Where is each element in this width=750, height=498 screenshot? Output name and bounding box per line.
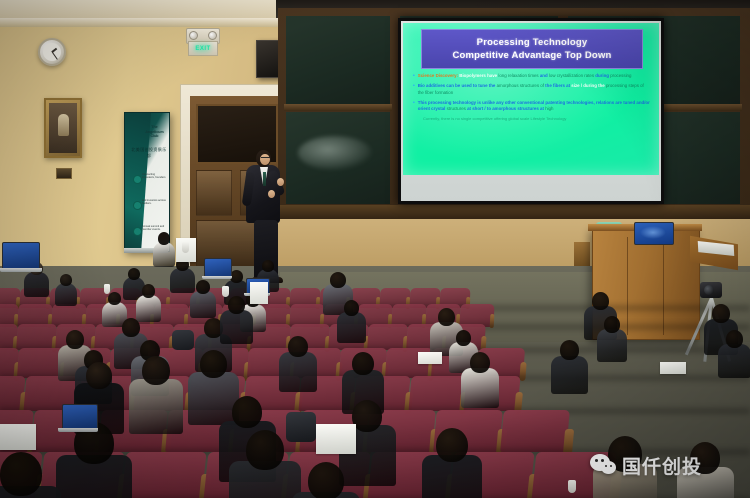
audience-head	[604, 316, 620, 333]
audience-head	[262, 260, 274, 272]
slide-title-line1: Processing Technology	[477, 36, 588, 49]
coffee-cup	[182, 242, 189, 253]
door-panel-lower-left	[196, 170, 232, 216]
audience-torso	[220, 310, 252, 344]
seat-back	[408, 376, 465, 411]
banner-blurb-1: Connecting innovators, founders	[142, 173, 167, 180]
audience-head	[200, 350, 227, 378]
seg: and	[540, 73, 548, 78]
coffee-cup	[222, 286, 229, 297]
seg: structures	[447, 106, 466, 111]
presenter-tie	[263, 172, 266, 186]
picture-artwork	[49, 103, 77, 153]
camera-lens-icon	[704, 285, 714, 295]
audience-head	[142, 284, 155, 298]
seg: high	[545, 106, 553, 111]
audience-head	[108, 292, 121, 305]
coffee-cup	[104, 284, 110, 294]
audience-head	[196, 280, 210, 294]
wall-speaker	[256, 40, 280, 78]
audience-head	[470, 352, 490, 373]
picture-figure	[58, 114, 69, 136]
wechat-eye-2	[601, 459, 604, 462]
bullet-2-text: Bio additives can be used to tune the am…	[418, 83, 651, 96]
slide-subnote: Currently, there is no single competitiv…	[413, 116, 651, 121]
audience-head	[352, 400, 382, 432]
audience-head	[246, 430, 284, 470]
wall-clock	[38, 38, 66, 66]
clock-face	[43, 43, 61, 61]
banner-org-name-en: The Angelicum Club	[142, 125, 167, 139]
audience-torso	[129, 379, 182, 434]
audience-torso	[55, 283, 78, 306]
laptop-screen	[2, 242, 40, 271]
coffee-cup	[568, 480, 576, 493]
audience-handout	[418, 352, 442, 364]
audience-head	[726, 330, 743, 348]
audience-handout	[0, 424, 36, 450]
emergency-lamp-right-icon	[208, 31, 217, 40]
seg: during	[595, 73, 609, 78]
backpack	[172, 330, 194, 350]
laptop-base	[0, 268, 42, 272]
audience-head	[122, 318, 140, 337]
audience-head	[344, 300, 359, 316]
slide-bullet-2: • Bio additives can be used to tune the …	[413, 83, 651, 96]
wechat-bubble-small	[601, 461, 616, 474]
audience-torso	[136, 295, 161, 322]
audience-head	[0, 452, 42, 496]
audience-head	[438, 308, 455, 326]
slide-bullet-3: • This processing technology is unlike a…	[413, 100, 651, 113]
slide-title-line2: Competitive Advantage Top Down	[452, 49, 611, 62]
framed-picture	[44, 98, 82, 158]
audience-torso	[461, 368, 499, 408]
seat-back	[500, 410, 570, 452]
presenter-right-hand	[277, 178, 284, 186]
audience-torso	[170, 268, 195, 293]
banner-bullet-icon-2	[133, 201, 142, 210]
audience-torso	[337, 312, 366, 342]
seg: size / during the	[571, 83, 604, 88]
wechat-logo-icon	[590, 454, 617, 477]
audience-head	[592, 292, 609, 310]
watermark-text: 国仟创投	[622, 452, 702, 479]
seat-back	[121, 452, 206, 498]
audience-head	[560, 340, 579, 360]
audience-torso	[279, 352, 317, 392]
emergency-lamp-left-icon	[189, 31, 198, 40]
seg: Bio additives can be used to tune the	[418, 83, 496, 88]
crown-molding	[0, 18, 300, 27]
podium-seam-1	[627, 237, 628, 335]
backpack	[286, 412, 316, 442]
audience-head	[60, 274, 72, 286]
seg: low crystallization rates	[549, 73, 594, 78]
slide-bullet-1: • Science Discovery: Biopolymers have lo…	[413, 73, 651, 80]
audience-head	[456, 330, 471, 346]
audience-handout	[660, 362, 686, 374]
audience-torso	[551, 356, 587, 394]
chalkboard-panel-1	[286, 16, 390, 104]
seg: long relaxation times	[498, 73, 538, 78]
audience-head	[308, 462, 344, 498]
podium-laptop-glow	[640, 226, 666, 239]
audience-laptop-base	[202, 276, 232, 279]
seg: This processing technology is unlike any…	[418, 100, 544, 105]
seg: at short / to amorphous structures at	[467, 106, 544, 111]
audience-head	[66, 330, 84, 349]
audience-torso	[190, 291, 217, 318]
bullet-marker-icon: •	[413, 100, 415, 113]
audience-head	[86, 362, 112, 389]
audience-head	[142, 356, 170, 385]
chalk-rail-1	[284, 104, 392, 111]
audience-head	[352, 352, 374, 375]
seg: amorphous structures of	[497, 83, 544, 88]
seg: formation	[435, 90, 453, 95]
audience-torso	[24, 272, 49, 297]
audience-handout	[250, 282, 268, 304]
podium-seam-2	[663, 237, 664, 335]
presentation-slide: Processing Technology Competitive Advant…	[403, 23, 659, 175]
seg: Science Discovery:	[418, 73, 458, 78]
photo-scene: EXIT The Angelicum Club 北美国创投资俱乐部 Connec…	[0, 0, 750, 498]
podium-side-box	[574, 242, 590, 266]
banner-blurb-2: and investors across borders.	[142, 199, 167, 206]
seg: processing	[610, 73, 631, 78]
banner-bullet-icon-1	[133, 175, 142, 184]
wall-plaque	[56, 168, 72, 179]
audience-head	[228, 296, 245, 314]
audience-head	[158, 232, 170, 245]
banner-bullet-icon-3	[133, 227, 142, 236]
audience-handout	[316, 424, 356, 454]
seg: the fibers at	[545, 83, 570, 88]
chalk-smudge	[298, 136, 372, 170]
slide-body: • Science Discovery: Biopolymers have lo…	[413, 73, 651, 121]
wechat-eye-1	[595, 459, 598, 462]
chalkboard-panel-2	[286, 112, 390, 204]
seg: Biopolymers have	[459, 73, 497, 78]
audience-head	[288, 336, 308, 357]
audience-torso	[153, 242, 176, 267]
audience-laptop-screen	[62, 404, 98, 431]
rollup-banner: The Angelicum Club 北美国创投资俱乐部 Connecting …	[124, 112, 170, 252]
banner-blurb-3: Annual summit and member events.	[142, 225, 167, 232]
audience-head	[436, 428, 468, 462]
audience-head	[712, 304, 730, 323]
audience-torso	[597, 329, 627, 361]
bullet-marker-icon: •	[413, 73, 415, 80]
audience-head	[128, 268, 140, 280]
exit-sign-label: EXIT	[195, 46, 210, 52]
exit-sign: EXIT	[188, 41, 218, 56]
presenter-left-hand	[268, 190, 275, 198]
audience-laptop-base	[58, 428, 98, 432]
clock-minute-hand	[52, 52, 58, 60]
bullet-marker-icon: •	[413, 83, 415, 96]
audience-head	[330, 272, 346, 288]
audience-head	[232, 396, 262, 428]
presenter-glasses-icon	[261, 157, 270, 161]
bullet-1-text: Science Discovery: Biopolymers have long…	[418, 73, 651, 80]
watermark: 国仟创投	[590, 452, 702, 479]
banner-org-name-cn: 北美国创投资俱乐部	[131, 147, 167, 159]
bullet-3-text: This processing technology is unlike any…	[418, 100, 651, 113]
slide-title-box: Processing Technology Competitive Advant…	[421, 29, 643, 69]
audience-torso	[718, 344, 750, 378]
